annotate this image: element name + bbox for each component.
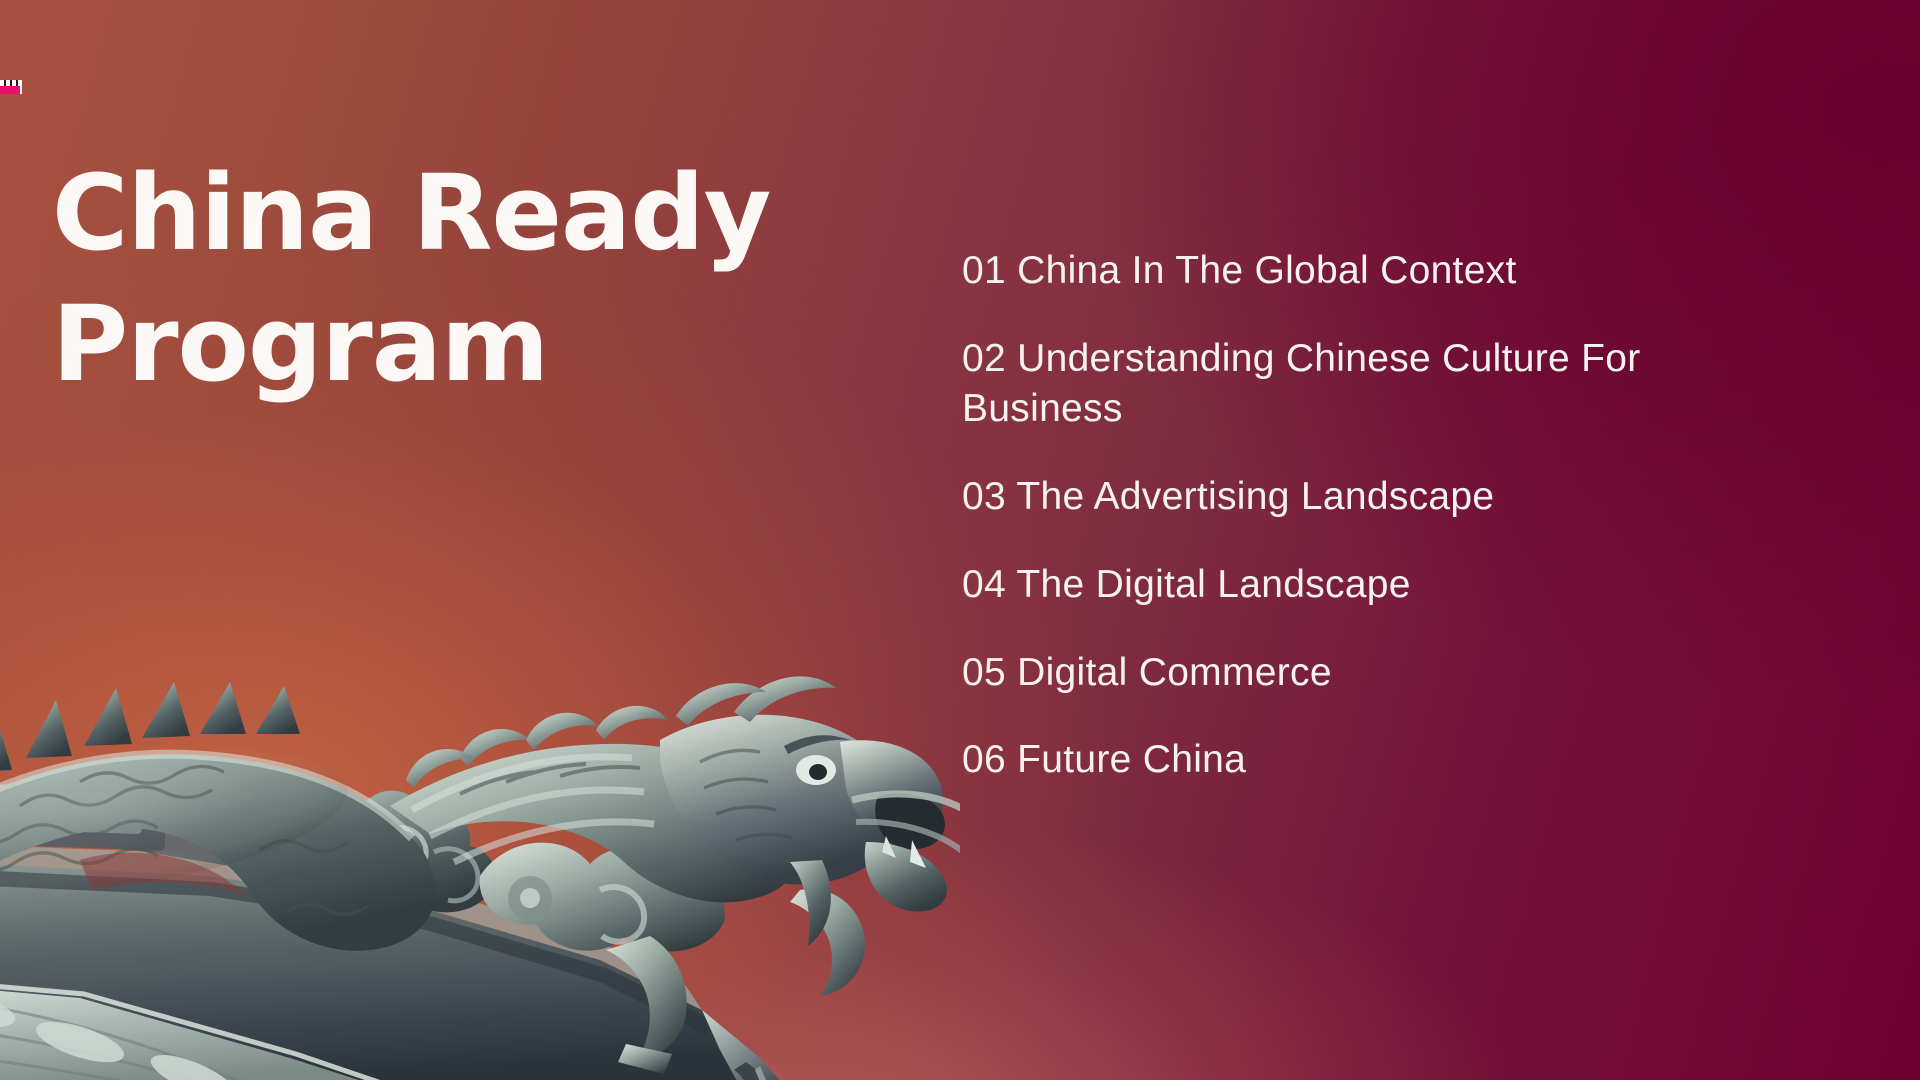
title-line-1: China Ready <box>52 148 912 279</box>
edge-marker-bar <box>0 86 20 94</box>
edge-marker-bar-cap <box>20 86 22 94</box>
presentation-slide: China Ready Program 01 China In The Glob… <box>0 0 1920 1080</box>
agenda-item-03: 03 The Advertising Landscape <box>962 472 1792 522</box>
edge-marker-artifact <box>0 80 22 94</box>
agenda-item-05: 05 Digital Commerce <box>962 648 1792 698</box>
agenda-item-02: 02 Understanding Chinese Culture For Bus… <box>962 334 1792 434</box>
slide-title: China Ready Program <box>52 148 912 410</box>
agenda-item-01: 01 China In The Global Context <box>962 246 1792 296</box>
agenda-item-04: 04 The Digital Landscape <box>962 560 1792 610</box>
title-line-2: Program <box>52 279 912 410</box>
agenda-list: 01 China In The Global Context 02 Unders… <box>962 246 1792 785</box>
agenda-item-06: 06 Future China <box>962 735 1792 785</box>
